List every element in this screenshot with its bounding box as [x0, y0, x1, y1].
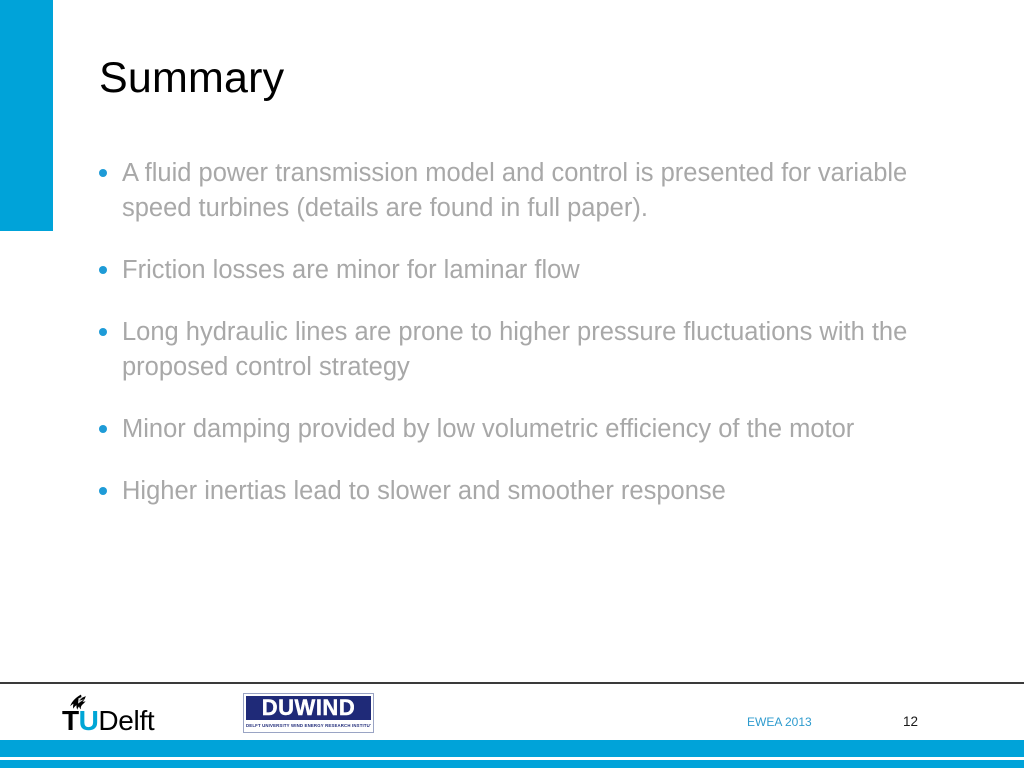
- list-item-text: Long hydraulic lines are prone to higher…: [122, 315, 914, 385]
- list-item: Friction losses are minor for laminar fl…: [96, 253, 914, 288]
- list-item-text: Friction losses are minor for laminar fl…: [122, 253, 914, 288]
- list-item: Long hydraulic lines are prone to higher…: [96, 315, 914, 385]
- bullet-point-icon: [99, 425, 107, 433]
- conference-label: EWEA 2013: [747, 714, 812, 730]
- bottom-accent-bar: [0, 740, 1024, 757]
- list-item-text: A fluid power transmission model and con…: [122, 156, 914, 226]
- page-title: Summary: [99, 52, 284, 104]
- duwind-name-band: DUWIND: [246, 696, 371, 720]
- bullet-point-icon: [99, 266, 107, 274]
- presentation-slide: Summary A fluid power transmission model…: [0, 0, 1024, 768]
- left-accent-bar: [0, 0, 53, 231]
- list-item-text: Higher inertias lead to slower and smoot…: [122, 474, 914, 509]
- bullet-point-icon: [99, 487, 107, 495]
- tudelft-wordmark: TUDelft: [62, 707, 154, 735]
- list-item: Higher inertias lead to slower and smoot…: [96, 474, 914, 509]
- tudelft-word-delft: Delft: [98, 705, 154, 736]
- duwind-name: DUWIND: [262, 697, 355, 719]
- tudelft-letter-u: U: [79, 705, 99, 736]
- bottom-accent-bar-thin: [0, 760, 1024, 768]
- tudelft-logo: TUDelft: [62, 694, 170, 734]
- slide-number: 12: [903, 713, 918, 730]
- bullet-point-icon: [99, 328, 107, 336]
- tudelft-letter-t: T: [62, 705, 79, 736]
- list-item: Minor damping provided by low volumetric…: [96, 412, 914, 447]
- bullet-list: A fluid power transmission model and con…: [96, 156, 914, 509]
- list-item-text: Minor damping provided by low volumetric…: [122, 412, 914, 447]
- duwind-subtitle: DELFT UNIVERSITY WIND ENERGY RESEARCH IN…: [246, 721, 371, 730]
- footer-divider: [0, 682, 1024, 684]
- list-item: A fluid power transmission model and con…: [96, 156, 914, 226]
- duwind-logo: DUWIND DELFT UNIVERSITY WIND ENERGY RESE…: [243, 693, 374, 733]
- bullet-point-icon: [99, 169, 107, 177]
